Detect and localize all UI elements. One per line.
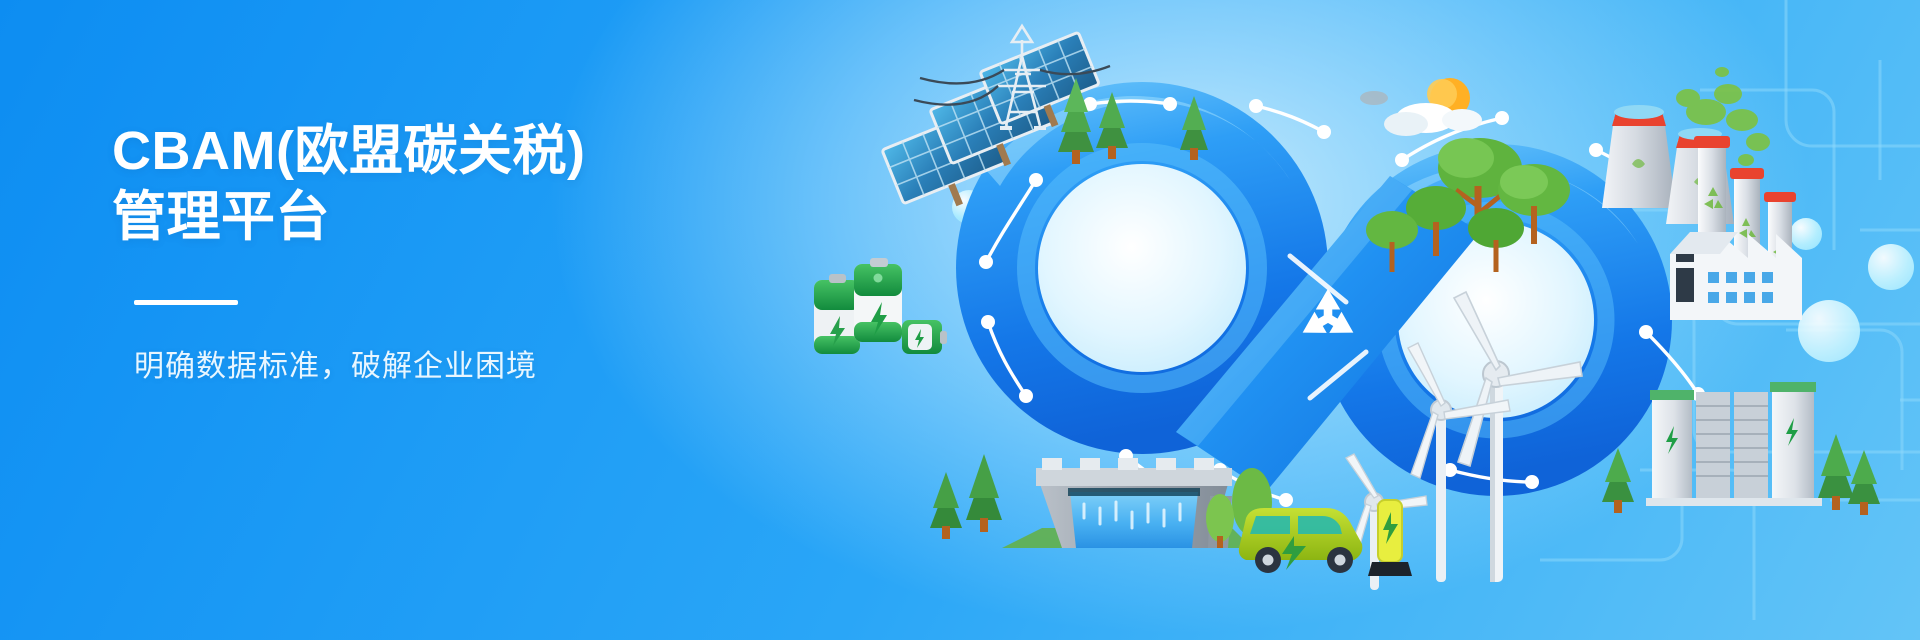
cbam-hero-banner: CBAM(欧盟碳关税) 管理平台 明确数据标准，破解企业困境 [0,0,1920,640]
sun-cloud-icon [1360,78,1482,136]
banner-copy-block: CBAM(欧盟碳关税) 管理平台 明确数据标准，破解企业困境 [112,118,752,387]
electric-car-icon [1239,508,1362,573]
cooling-tower-icon [1602,105,1676,208]
pine-tree-icon [1848,450,1880,515]
battery-cells-icon [814,258,947,354]
pine-tree-icon [930,472,962,539]
circular-economy-illustration [790,0,1920,640]
pine-tree-icon [1602,448,1634,513]
title-line-1: CBAM(欧盟碳关税) [112,118,752,184]
banner-subtitle: 明确数据标准，破解企业困境 [134,347,752,387]
pine-tree-icon [1818,434,1854,510]
pine-tree-icon [966,454,1002,532]
title-divider [134,300,238,305]
title-line-2: 管理平台 [112,184,752,250]
page-title: CBAM(欧盟碳关税) 管理平台 [112,118,752,250]
battery-storage-rack-icon [1646,382,1822,506]
